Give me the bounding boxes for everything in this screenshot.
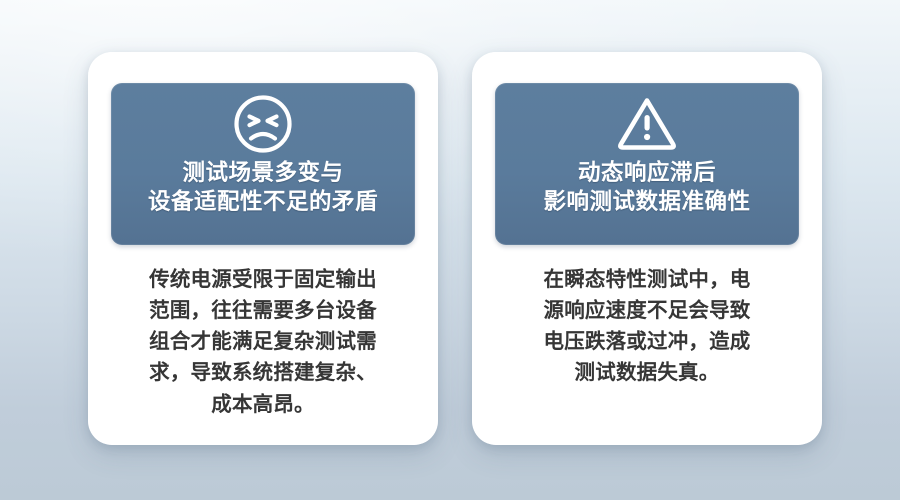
card-header-panel: 动态响应滞后 影响测试数据准确性 xyxy=(495,83,799,245)
card-title: 测试场景多变与 设备适配性不足的矛盾 xyxy=(148,158,378,217)
card-header-panel: 测试场景多变与 设备适配性不足的矛盾 xyxy=(111,83,415,245)
card-title: 动态响应滞后 影响测试数据准确性 xyxy=(543,158,750,217)
slide-canvas: 测试场景多变与 设备适配性不足的矛盾 传统电源受限于固定输出 范围，往往需要多台… xyxy=(0,0,900,500)
card-body-text: 在瞬态特性测试中，电 源响应速度不足会导致 电压跌落或过冲，造成 测试数据失真。 xyxy=(494,264,800,389)
problem-card-dynamic-response[interactable]: 动态响应滞后 影响测试数据准确性 在瞬态特性测试中，电 源响应速度不足会导致 电… xyxy=(472,52,822,445)
warning-triangle-icon xyxy=(615,92,679,156)
problem-card-adaptability[interactable]: 测试场景多变与 设备适配性不足的矛盾 传统电源受限于固定输出 范围，往往需要多台… xyxy=(88,52,438,445)
card-body-text: 传统电源受限于固定输出 范围，往往需要多台设备 组合才能满足复杂测试需 求，导致… xyxy=(110,264,416,420)
confounded-face-icon xyxy=(231,92,295,156)
